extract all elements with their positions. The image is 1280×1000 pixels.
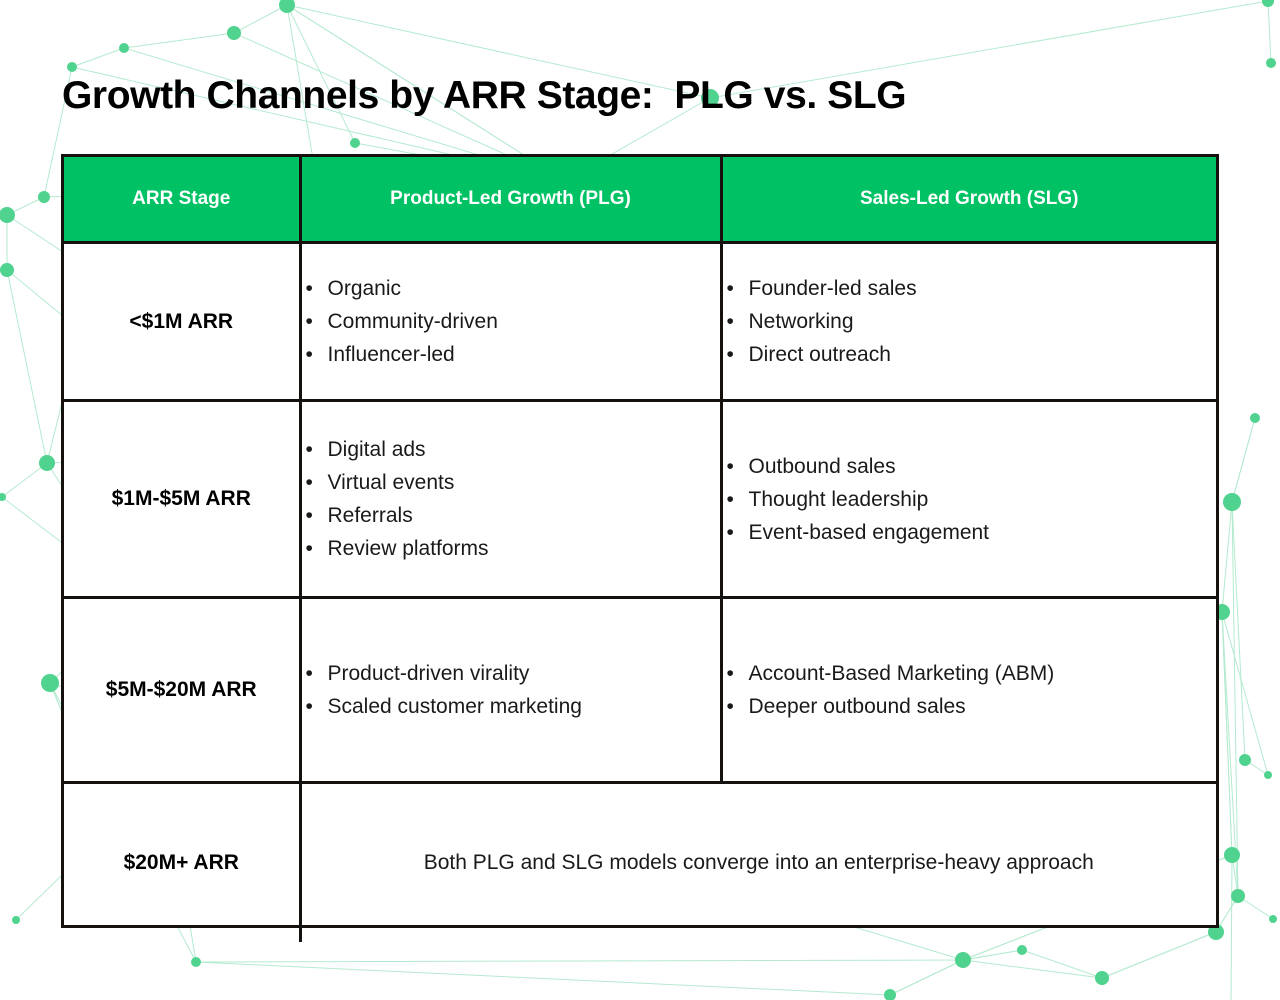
list-item: Product-driven virality <box>324 657 720 690</box>
slg-cell-row-0: Founder-led sales Networking Direct outr… <box>721 243 1216 401</box>
table-row: $20M+ ARR Both PLG and SLG models conver… <box>64 783 1216 943</box>
plg-bullet-list-row-2: Product-driven virality Scaled customer … <box>302 657 720 723</box>
stage-label-row-3: $20M+ ARR <box>64 783 300 943</box>
plg-cell-row-2: Product-driven virality Scaled customer … <box>300 598 721 783</box>
table-row: $5M-$20M ARR Product-driven virality Sca… <box>64 598 1216 783</box>
list-item: Community-driven <box>324 305 720 338</box>
list-item: Account-Based Marketing (ABM) <box>745 657 1217 690</box>
merged-summary-cell: Both PLG and SLG models converge into an… <box>300 783 1216 943</box>
table-header: ARR Stage Product-Led Growth (PLG) Sales… <box>64 157 1216 243</box>
column-header-arr-stage: ARR Stage <box>64 157 300 243</box>
plg-bullet-list-row-1: Digital ads Virtual events Referrals Rev… <box>302 433 720 565</box>
slg-bullet-list-row-0: Founder-led sales Networking Direct outr… <box>723 272 1217 371</box>
list-item: Virtual events <box>324 466 720 499</box>
plg-cell-row-0: Organic Community-driven Influencer-led <box>300 243 721 401</box>
stage-label-row-2: $5M-$20M ARR <box>64 598 300 783</box>
column-header-slg: Sales-Led Growth (SLG) <box>721 157 1216 243</box>
list-item: Digital ads <box>324 433 720 466</box>
table-body: <$1M ARR Organic Community-driven Influe… <box>64 243 1216 943</box>
plg-bullet-list-row-0: Organic Community-driven Influencer-led <box>302 272 720 371</box>
slg-bullet-list-row-1: Outbound sales Thought leadership Event-… <box>723 450 1217 549</box>
column-header-plg: Product-Led Growth (PLG) <box>300 157 721 243</box>
plg-cell-row-1: Digital ads Virtual events Referrals Rev… <box>300 401 721 598</box>
slg-cell-row-1: Outbound sales Thought leadership Event-… <box>721 401 1216 598</box>
list-item: Influencer-led <box>324 338 720 371</box>
list-item: Referrals <box>324 499 720 532</box>
list-item: Thought leadership <box>745 483 1217 516</box>
growth-channels-table: ARR Stage Product-Led Growth (PLG) Sales… <box>61 154 1219 928</box>
table-row: <$1M ARR Organic Community-driven Influe… <box>64 243 1216 401</box>
list-item: Event-based engagement <box>745 516 1217 549</box>
list-item: Scaled customer marketing <box>324 690 720 723</box>
stage-label-row-0: <$1M ARR <box>64 243 300 401</box>
list-item: Networking <box>745 305 1217 338</box>
slg-bullet-list-row-2: Account-Based Marketing (ABM) Deeper out… <box>723 657 1217 723</box>
list-item: Organic <box>324 272 720 305</box>
list-item: Review platforms <box>324 532 720 565</box>
header-row: ARR Stage Product-Led Growth (PLG) Sales… <box>64 157 1216 243</box>
slide-root: Growth Channels by ARR Stage: PLG vs. SL… <box>0 0 1280 1000</box>
page-title: Growth Channels by ARR Stage: PLG vs. SL… <box>62 74 906 118</box>
stage-label-row-1: $1M-$5M ARR <box>64 401 300 598</box>
list-item: Deeper outbound sales <box>745 690 1217 723</box>
list-item: Founder-led sales <box>745 272 1217 305</box>
slg-cell-row-2: Account-Based Marketing (ABM) Deeper out… <box>721 598 1216 783</box>
list-item: Outbound sales <box>745 450 1217 483</box>
list-item: Direct outreach <box>745 338 1217 371</box>
matrix-table: ARR Stage Product-Led Growth (PLG) Sales… <box>64 157 1216 942</box>
table-row: $1M-$5M ARR Digital ads Virtual events R… <box>64 401 1216 598</box>
